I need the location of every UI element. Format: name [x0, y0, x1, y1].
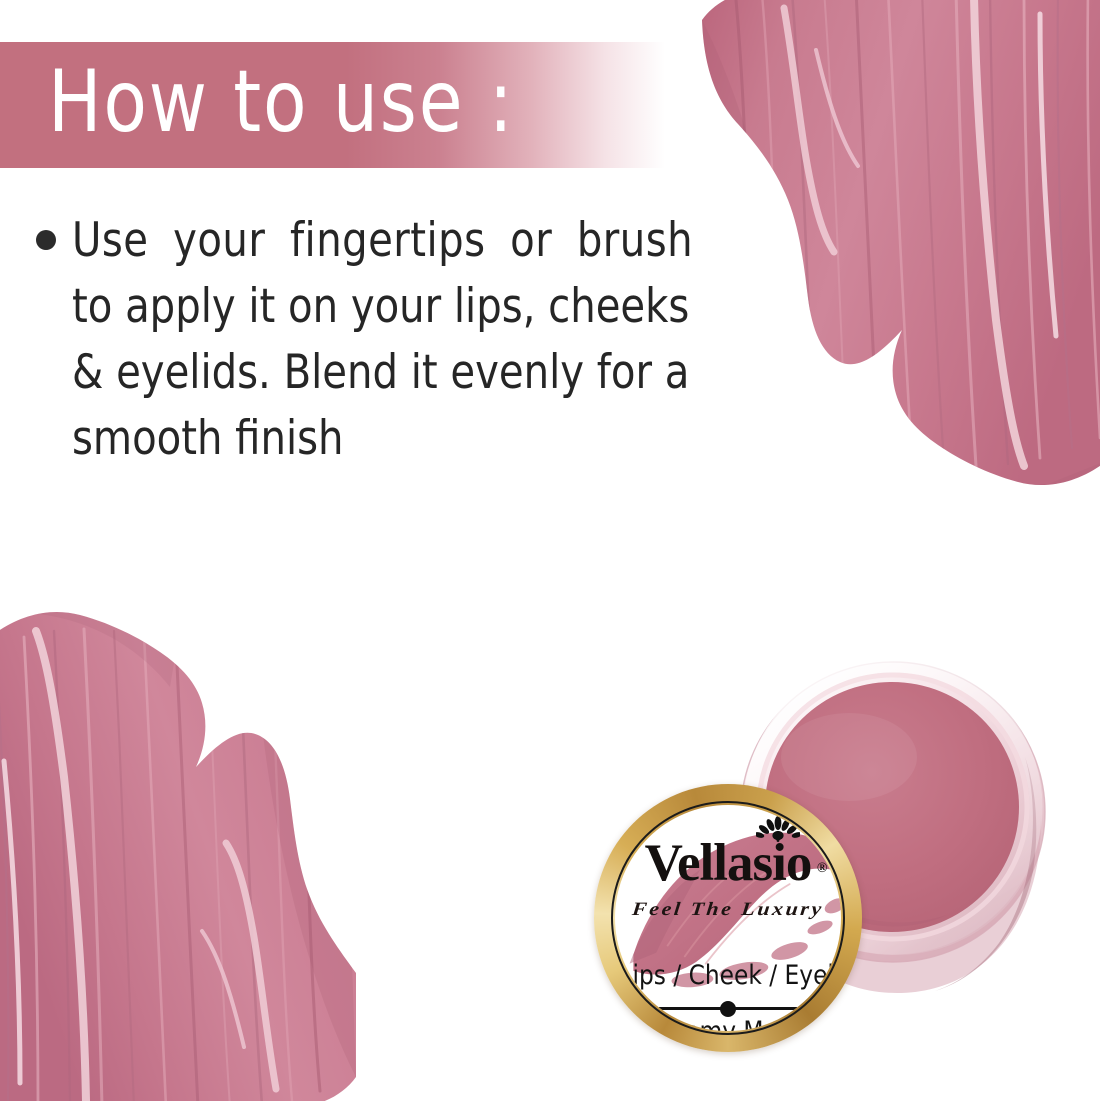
brand-tagline: Feel The Luxury [615, 899, 841, 920]
instruction-line: smooth finish [72, 406, 693, 472]
how-to-use-product-card: How to use : Use your fingertips or brus… [0, 0, 1100, 1101]
bullet-icon [36, 230, 56, 250]
label-content: Vellasio [615, 805, 841, 1031]
label-face: Vellasio [615, 805, 841, 1031]
brand-row: Vellasio [615, 835, 841, 891]
brush-swatch-top-right [688, 0, 1100, 530]
divider-dot-icon [720, 1001, 736, 1017]
registered-mark: ® [817, 841, 826, 897]
page-title: How to use : [48, 50, 515, 154]
brand-wordmark: Vellasio [645, 835, 812, 891]
instruction-line: to apply it on your lips, cheeks [72, 274, 693, 340]
label-finish-text: Creamy Matte [620, 1016, 837, 1031]
brush-swatch-bottom-left [0, 561, 370, 1101]
leaf-ornament-icon [756, 816, 800, 843]
instruction-block: Use your fingertips or brush to apply it… [36, 208, 686, 472]
instruction-lines: Use your fingertips or brush to apply it… [72, 208, 726, 472]
instruction-line: Use your fingertips or brush [72, 208, 693, 274]
instruction-line: & eyelids. Blend it evenly for a [72, 340, 693, 406]
label-usage-text: Lips / Cheek / Eyelid [620, 960, 837, 992]
label-divider [659, 1001, 797, 1015]
product-label-cap: Vellasio [594, 784, 862, 1052]
